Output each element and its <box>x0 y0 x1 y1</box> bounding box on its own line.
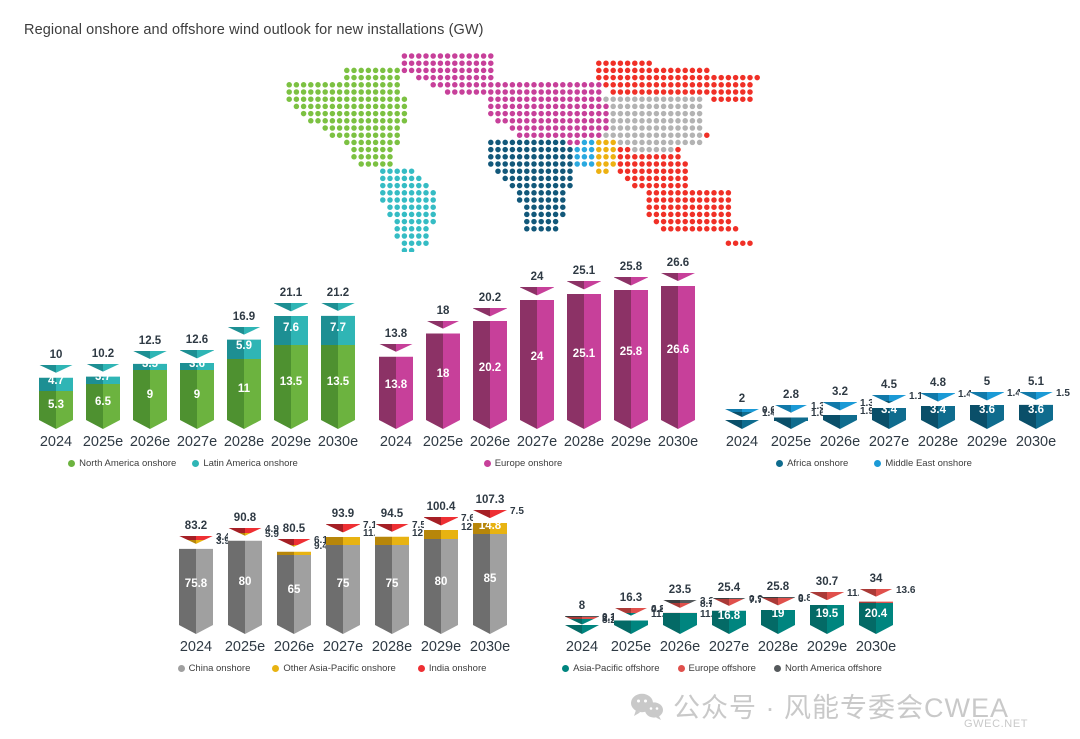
segment-right-face <box>441 539 458 625</box>
segment-left-face <box>277 545 294 555</box>
legend-item[interactable]: China onshore <box>178 663 251 674</box>
watermark: 公众号 · 风能专委会CWEA <box>630 686 1009 725</box>
segment-left-face <box>761 605 778 625</box>
bar-segment[interactable]: 75 <box>326 545 360 625</box>
segment-left-face <box>326 524 343 532</box>
segment-right-face <box>294 545 311 555</box>
bar-bottom-chevron <box>277 625 311 634</box>
bar-segment[interactable]: 5.2 <box>565 619 599 625</box>
stacked-bar[interactable]: 24 <box>520 287 554 420</box>
bar-segment[interactable]: 25.1 <box>567 281 601 420</box>
bar-group[interactable]: 0.61.42 <box>725 409 759 420</box>
stacked-bar[interactable]: 1.43.6 <box>970 392 1004 420</box>
segment-left-face <box>133 370 150 420</box>
stacked-bar[interactable]: 13.620.4 <box>859 589 893 625</box>
segment-left-face <box>473 510 490 518</box>
legend-item[interactable]: India onshore <box>418 663 487 674</box>
stacked-bar[interactable]: 3.28.711.5 <box>663 600 697 625</box>
legend-label: Europe onshore <box>495 458 563 469</box>
foot-right <box>103 420 120 429</box>
foot-right <box>392 625 409 634</box>
bar-group[interactable]: 7.613.521.1 <box>274 303 308 420</box>
segment-right-face <box>840 410 857 421</box>
bar-segment[interactable]: 18 <box>426 321 460 420</box>
legend-item[interactable]: Latin America onshore <box>192 458 298 469</box>
bar-total-label: 10.2 <box>66 348 140 360</box>
bar-segment[interactable]: 19.5 <box>810 604 844 625</box>
bar-group[interactable]: 3.76.510.2 <box>86 364 120 420</box>
bar-segment[interactable]: 11.8 <box>326 532 360 545</box>
bar-segment[interactable]: 9 <box>133 370 167 420</box>
stacked-bar[interactable]: 4.75.3 <box>39 365 73 420</box>
bar-total-label: 16.9 <box>207 311 281 323</box>
legend-color-dot <box>874 460 881 467</box>
foot-right <box>889 420 906 429</box>
foot-right <box>791 420 808 429</box>
segment-left-face <box>712 607 729 625</box>
segment-right-face <box>938 393 955 401</box>
bar-segment[interactable]: 5.9 <box>227 327 261 360</box>
stacked-bar[interactable]: 0.97.716.8 <box>712 598 746 625</box>
wechat-icon <box>630 692 664 720</box>
bar-group[interactable]: 7.5127594.5 <box>375 524 409 625</box>
segment-left-face <box>921 401 938 420</box>
segment-right-face <box>441 526 458 540</box>
foot-left <box>712 625 729 634</box>
foot-right <box>678 420 695 429</box>
legend-item[interactable]: Asia-Pacific offshore <box>562 663 659 674</box>
legend-item[interactable]: Africa onshore <box>776 458 848 469</box>
foot-left <box>567 420 584 429</box>
segment-right-face <box>680 603 697 612</box>
legend-label: China onshore <box>189 663 251 674</box>
stacked-bar[interactable]: 3.59 <box>133 351 167 420</box>
legend-label: Asia-Pacific offshore <box>573 663 659 674</box>
segment-left-face <box>180 370 197 420</box>
segment-right-face <box>338 345 355 420</box>
bar-group[interactable]: 1.43.65 <box>970 392 1004 420</box>
segment-right-face <box>631 613 648 625</box>
segment-left-face <box>375 524 392 532</box>
stacked-bar[interactable]: 7.713.5 <box>321 303 355 420</box>
bar-bottom-chevron <box>379 420 413 429</box>
segment-left-face <box>274 303 291 345</box>
foot-left <box>227 420 244 429</box>
bar-segment[interactable]: 7.7 <box>712 599 746 607</box>
bar-group[interactable]: 25.825.8 <box>614 277 648 420</box>
bar-segment[interactable]: 7.5 <box>473 510 507 518</box>
legend-item[interactable]: Europe onshore <box>484 458 563 469</box>
foot-left <box>473 625 490 634</box>
segment-left-face <box>1019 400 1036 420</box>
stacked-bar[interactable]: 7.51275 <box>375 524 409 625</box>
segment-left-face <box>823 402 840 409</box>
segment-right-face <box>291 345 308 420</box>
bar-segment[interactable]: 7.6 <box>274 303 308 345</box>
segment-left-face <box>663 613 680 625</box>
foot-right <box>537 420 554 429</box>
bar-bottom-chevron <box>86 420 120 429</box>
bar-segment[interactable]: 7.5 <box>375 524 409 532</box>
bar-segment[interactable]: 24 <box>520 287 554 420</box>
foot-right <box>196 625 213 634</box>
segment-right-face <box>742 412 759 420</box>
foot-right <box>1036 420 1053 429</box>
bar-segment[interactable]: 16.8 <box>712 607 746 625</box>
legend-item[interactable]: Other Asia-Pacific onshore <box>272 663 395 674</box>
stacked-bar[interactable]: 1.53.6 <box>1019 392 1053 420</box>
bar-bottom-chevron <box>1019 420 1053 429</box>
segment-right-face <box>245 539 262 625</box>
foot-right <box>938 420 955 429</box>
legend-item[interactable]: Europe offshore <box>678 663 756 674</box>
segment-left-face <box>663 603 680 612</box>
foot-right <box>291 420 308 429</box>
segment-left-face <box>326 545 343 625</box>
foot-right <box>778 625 795 634</box>
bar-bottom-chevron <box>872 420 906 429</box>
bar-segment[interactable]: 11 <box>227 359 261 420</box>
bar-total-label: 12.6 <box>160 334 234 346</box>
stacked-bar[interactable]: 13.8 <box>379 344 413 420</box>
bar-bottom-chevron <box>712 625 746 634</box>
bar-group[interactable]: 4.75.310 <box>39 365 73 420</box>
bar-segment[interactable]: 3.5 <box>133 351 167 370</box>
foot-left <box>133 420 150 429</box>
bar-bottom-chevron <box>473 420 507 429</box>
bar-segment[interactable]: 85 <box>473 534 507 625</box>
stacked-bar[interactable]: 25.1 <box>567 281 601 420</box>
bar-group[interactable]: 2424 <box>520 287 554 420</box>
foot-left <box>375 625 392 634</box>
foot-left <box>970 420 987 429</box>
stacked-bar[interactable]: 7.612.880 <box>424 517 458 625</box>
stacked-bar[interactable]: 3.43.975.8 <box>179 536 213 625</box>
stacked-bar[interactable]: 7.613.5 <box>274 303 308 420</box>
chart-legend: Africa onshoreMiddle East onshore <box>700 458 1048 469</box>
bar-group[interactable]: 1.31.93.2 <box>823 402 857 420</box>
chart-page: Regional onshore and offshore wind outlo… <box>0 0 1080 739</box>
segment-right-face <box>392 524 409 532</box>
legend-label: India onshore <box>429 663 487 674</box>
legend-label: Europe offshore <box>689 663 756 674</box>
segment-left-face <box>810 604 827 625</box>
bar-segment[interactable]: 3.4 <box>921 401 955 420</box>
foot-right <box>680 625 697 634</box>
segment-right-face <box>343 532 360 545</box>
stacked-bar[interactable]: 0.8619 <box>761 597 795 625</box>
bar-segment[interactable]: 75.8 <box>179 544 213 625</box>
bar-segment[interactable]: 20.4 <box>859 603 893 625</box>
stacked-bar[interactable]: 20.2 <box>473 308 507 420</box>
bar-segment[interactable]: 26.6 <box>661 273 695 420</box>
bar-segment[interactable]: 1.3 <box>774 405 808 412</box>
foot-right <box>441 625 458 634</box>
bar-segment[interactable]: 3.6 <box>180 350 214 370</box>
foot-left <box>761 625 778 634</box>
segment-right-face <box>778 605 795 625</box>
segment-left-face <box>614 613 631 625</box>
segment-right-face <box>244 359 261 420</box>
legend-item[interactable]: Middle East onshore <box>874 458 972 469</box>
bar-segment[interactable]: 3.4 <box>872 401 906 420</box>
foot-left <box>321 420 338 429</box>
segment-left-face <box>970 400 987 420</box>
bar-group[interactable]: 0.97.716.825.4 <box>712 598 746 625</box>
bar-bottom-chevron <box>725 420 759 429</box>
bar-segment[interactable]: 65 <box>277 555 311 625</box>
foot-left <box>39 420 56 429</box>
bar-segment[interactable]: 3.7 <box>86 364 120 384</box>
bar-group[interactable]: 13.620.434 <box>859 589 893 625</box>
bar-segment[interactable]: 9 <box>180 370 214 420</box>
segment-left-face <box>774 405 791 412</box>
segment-left-face <box>565 619 582 625</box>
stacked-bar[interactable]: 1.31.9 <box>823 402 857 420</box>
bar-group[interactable]: 1.53.65.1 <box>1019 392 1053 420</box>
bar-segment[interactable]: 1.4 <box>921 393 955 401</box>
stacked-bar[interactable]: 3.69 <box>180 350 214 420</box>
stacked-bar[interactable]: 3.76.5 <box>86 364 120 420</box>
foot-right <box>245 625 262 634</box>
stacked-bar[interactable]: 1.31.6 <box>774 405 808 420</box>
segment-right-face <box>56 365 73 391</box>
bar-segment[interactable]: 11.3 <box>614 613 648 625</box>
bar-segment[interactable]: 5.3 <box>39 391 73 420</box>
bar-total-label: 18 <box>406 305 480 317</box>
foot-left <box>823 420 840 429</box>
bar-bottom-chevron <box>424 625 458 634</box>
bar-group[interactable]: 1.31.62.8 <box>774 405 808 420</box>
bar-segment[interactable]: 80 <box>228 539 262 625</box>
chart-panel-africa-middle-east-onshore: 0.61.421.31.62.81.31.93.21.13.44.51.43.4… <box>700 268 1048 468</box>
bar-group[interactable]: 3.6912.6 <box>180 350 214 420</box>
stacked-bar[interactable]: 1.13.4 <box>872 395 906 420</box>
segment-left-face <box>823 410 840 421</box>
bar-segment[interactable]: 11.2 <box>810 592 844 604</box>
bar-group[interactable]: 0.861925.8 <box>761 597 795 625</box>
bar-segment[interactable]: 3.6 <box>1019 400 1053 420</box>
foot-right <box>244 420 261 429</box>
bar-segment[interactable]: 12.8 <box>424 526 458 540</box>
bar-group[interactable]: 1818 <box>426 321 460 420</box>
foot-right <box>343 625 360 634</box>
stacked-bar[interactable]: 1.43.4 <box>921 393 955 420</box>
stacked-bar[interactable]: 0.84.211.3 <box>614 608 648 625</box>
segment-left-face <box>424 539 441 625</box>
foot-left <box>661 420 678 429</box>
stacked-bar[interactable]: 4.95.980 <box>228 528 262 625</box>
watermark-text: 公众号 · 风能专委会CWEA <box>673 686 1009 725</box>
foot-right <box>294 625 311 634</box>
foot-right <box>840 420 857 429</box>
segment-left-face <box>179 544 196 625</box>
segment-left-face <box>86 384 103 420</box>
segment-right-face <box>197 370 214 420</box>
stacked-bar[interactable]: 26.6 <box>661 273 695 420</box>
segment-right-face <box>876 603 893 625</box>
legend-item[interactable]: North America offshore <box>774 663 882 674</box>
legend-label: Middle East onshore <box>885 458 972 469</box>
bar-segment[interactable]: 1.9 <box>823 410 857 421</box>
bar-group[interactable]: 4.95.98090.8 <box>228 528 262 625</box>
legend-color-dot <box>192 460 199 467</box>
segment-left-face <box>872 401 889 420</box>
legend-label: Other Asia-Pacific onshore <box>283 663 395 674</box>
bar-bottom-chevron <box>227 420 261 429</box>
bar-segment[interactable]: 1.3 <box>823 402 857 409</box>
chart-legend: China onshoreOther Asia-Pacific onshoreI… <box>148 663 516 674</box>
stacked-bar[interactable]: 11.219.5 <box>810 592 844 625</box>
segment-value-label: 12 <box>412 528 423 539</box>
segment-right-face <box>1036 400 1053 420</box>
foot-right <box>56 420 73 429</box>
bar-group[interactable]: 20.220.2 <box>473 308 507 420</box>
bar-segment[interactable]: 1.5 <box>1019 392 1053 400</box>
bar-group[interactable]: 1.43.44.8 <box>921 393 955 420</box>
segment-right-face <box>987 392 1004 400</box>
bar-segment[interactable]: 25.8 <box>614 277 648 420</box>
gwec-net-label: GWEC.NET <box>964 718 1028 730</box>
bar-group[interactable]: 3.28.711.523.5 <box>663 600 697 625</box>
segment-right-face <box>876 589 893 604</box>
stacked-bar[interactable]: 7.514.885 <box>473 510 507 625</box>
bar-group[interactable]: 7.111.87593.9 <box>326 524 360 625</box>
stacked-bar[interactable]: 6.19.465 <box>277 539 311 625</box>
stacked-bar[interactable]: 0.61.4 <box>725 409 759 420</box>
segment-right-face <box>791 412 808 421</box>
segment-right-face <box>392 545 409 625</box>
bar-group[interactable]: 6.19.46580.5 <box>277 539 311 625</box>
stacked-bar[interactable]: 25.8 <box>614 277 648 420</box>
stacked-bar[interactable]: 0.12.75.2 <box>565 616 599 625</box>
stacked-bar[interactable]: 7.111.875 <box>326 524 360 625</box>
segment-left-face <box>227 327 244 360</box>
segment-right-face <box>678 273 695 420</box>
bar-segment[interactable]: 8.7 <box>663 603 697 612</box>
bar-segment[interactable]: 12 <box>375 532 409 545</box>
stacked-bar[interactable]: 5.911 <box>227 327 261 420</box>
bar-segment[interactable]: 13.5 <box>321 345 355 420</box>
legend-label: Africa onshore <box>787 458 848 469</box>
segment-right-face <box>396 344 413 420</box>
foot-left <box>725 420 742 429</box>
bar-group[interactable]: 7.612.880100.4 <box>424 517 458 625</box>
segment-right-face <box>197 350 214 370</box>
bar-bottom-chevron <box>180 420 214 429</box>
foot-left <box>921 420 938 429</box>
bar-segment[interactable]: 1.4 <box>970 392 1004 400</box>
segment-left-face <box>375 545 392 625</box>
legend-color-dot <box>418 665 425 672</box>
segment-right-face <box>490 534 507 625</box>
bar-group[interactable]: 7.713.521.2 <box>321 303 355 420</box>
bar-group[interactable]: 1.13.44.5 <box>872 395 906 420</box>
foot-left <box>424 625 441 634</box>
segment-right-face <box>889 401 906 420</box>
bar-bottom-chevron <box>426 420 460 429</box>
chart-panel-asia-pacific-onshore: 3.43.975.883.24.95.98090.86.19.46580.57.… <box>148 505 516 690</box>
foot-right <box>631 625 648 634</box>
segment-right-face <box>791 405 808 412</box>
stacked-bar[interactable]: 18 <box>426 321 460 420</box>
segment-right-face <box>584 281 601 420</box>
bar-total-label: 107.3 <box>453 494 527 506</box>
bar-segment[interactable]: 4.7 <box>39 365 73 391</box>
bar-group[interactable]: 13.813.8 <box>379 344 413 420</box>
segment-right-face <box>392 532 409 545</box>
bar-segment[interactable]: 7.1 <box>326 524 360 532</box>
bar-segment[interactable]: 80 <box>424 539 458 625</box>
foot-right <box>197 420 214 429</box>
bar-total-label: 13.8 <box>359 328 433 340</box>
bar-segment[interactable]: 11.5 <box>663 613 697 625</box>
segment-left-face <box>473 518 490 534</box>
segment-left-face <box>970 392 987 400</box>
bar-group[interactable]: 26.626.6 <box>661 273 695 420</box>
bar-bottom-chevron <box>473 625 507 634</box>
segment-value-label: 7.5 <box>510 506 524 517</box>
bar-segment[interactable]: 1.6 <box>774 412 808 421</box>
bar-group[interactable]: 25.125.1 <box>567 281 601 420</box>
bar-segment[interactable]: 13.6 <box>859 589 893 604</box>
bar-segment[interactable]: 13.8 <box>379 344 413 420</box>
plot-area: 0.61.421.31.62.81.31.93.21.13.44.51.43.4… <box>700 268 1048 420</box>
bar-segment[interactable]: 6.5 <box>86 384 120 420</box>
foot-right <box>396 420 413 429</box>
legend-item[interactable]: North America onshore <box>68 458 176 469</box>
bar-segment[interactable]: 20.2 <box>473 308 507 420</box>
segment-left-face <box>774 412 791 421</box>
bar-group[interactable]: 3.43.975.883.2 <box>179 536 213 625</box>
segment-left-face <box>321 303 338 346</box>
bar-group[interactable]: 0.12.75.28 <box>565 616 599 625</box>
segment-left-face <box>133 351 150 370</box>
bar-group[interactable]: 3.5912.5 <box>133 351 167 420</box>
segment-left-face <box>567 281 584 420</box>
bar-group[interactable]: 5.91116.9 <box>227 327 261 420</box>
segment-right-face <box>343 545 360 625</box>
segment-left-face <box>326 532 343 545</box>
chart-legend: North America onshoreLatin America onsho… <box>18 458 348 469</box>
foot-right <box>876 625 893 634</box>
bar-segment[interactable]: 7.6 <box>424 517 458 525</box>
bar-segment[interactable]: 14.8 <box>473 518 507 534</box>
bar-segment[interactable]: 9.4 <box>277 545 311 555</box>
foot-right <box>443 420 460 429</box>
bar-bottom-chevron <box>321 420 355 429</box>
bar-group[interactable]: 7.514.885107.3 <box>473 510 507 625</box>
segment-right-face <box>103 384 120 420</box>
bar-segment[interactable]: 1.4 <box>725 412 759 420</box>
bar-segment[interactable]: 7.7 <box>321 303 355 346</box>
chart-panel-europe-onshore: 13.813.8181820.220.2242425.125.125.825.8… <box>358 268 688 468</box>
bar-segment[interactable]: 3.6 <box>970 400 1004 420</box>
bar-segment[interactable]: 75 <box>375 545 409 625</box>
bar-group[interactable]: 11.219.530.7 <box>810 592 844 625</box>
foot-right <box>150 420 167 429</box>
bar-segment[interactable]: 13.5 <box>274 345 308 420</box>
segment-left-face <box>859 603 876 625</box>
chart-panel-offshore: 0.12.75.280.84.211.316.33.28.711.523.50.… <box>538 505 906 690</box>
segment-left-face <box>1019 392 1036 400</box>
bar-segment[interactable]: 19 <box>761 605 795 625</box>
bar-group[interactable]: 0.84.211.316.3 <box>614 608 648 625</box>
bar-total-label: 34 <box>839 573 913 585</box>
segment-right-face <box>103 364 120 384</box>
x-axis-label: 2030e <box>451 639 529 655</box>
bar-bottom-chevron <box>274 420 308 429</box>
